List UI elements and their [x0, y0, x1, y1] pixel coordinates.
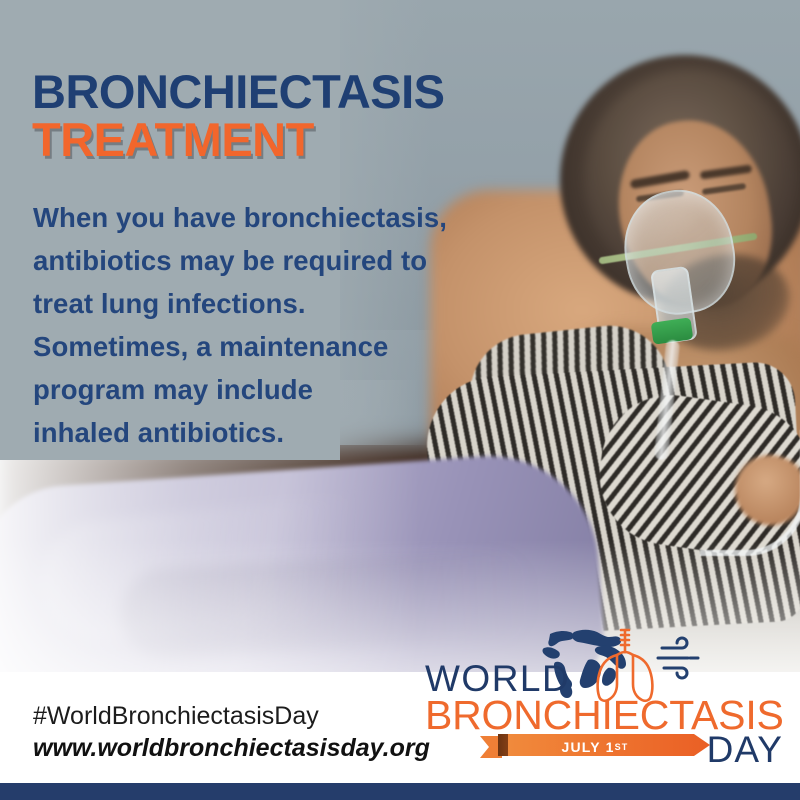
hashtag-text: #WorldBronchiectasisDay [33, 702, 319, 731]
body-line: antibiotics may be required to [33, 239, 533, 282]
nebulizer-tube-curve [700, 430, 800, 556]
body-line: treat lung infections. [33, 282, 533, 325]
body-copy: When you have bronchiectasis, antibiotic… [33, 196, 533, 454]
website-url[interactable]: www.worldbronchiectasisday.org [33, 734, 430, 763]
footer-accent-bar [0, 783, 800, 800]
ribbon-label: JULY 1ST [480, 732, 710, 762]
body-line: inhaled antibiotics. [33, 411, 533, 454]
headline-line-1: BRONCHIECTASIS [32, 68, 552, 116]
body-line: Sometimes, a maintenance [33, 325, 533, 368]
body-line: program may include [33, 368, 533, 411]
ribbon-ordinal: ST [615, 742, 629, 752]
ribbon-date: JULY 1 [561, 739, 614, 755]
page-title: BRONCHIECTASIS TREATMENT [32, 68, 552, 164]
headline-line-2: TREATMENT [32, 116, 552, 164]
logo-word-day: DAY [707, 729, 783, 771]
poster-canvas: BRONCHIECTASIS TREATMENT When you have b… [0, 0, 800, 800]
footer: #WorldBronchiectasisDay www.worldbronchi… [0, 672, 800, 800]
july-date-ribbon: JULY 1ST [480, 732, 710, 762]
world-bronchiectasis-day-logo: WORLD BRONCHIECTASIS DAY [425, 632, 785, 782]
body-line: When you have bronchiectasis, [33, 196, 533, 239]
